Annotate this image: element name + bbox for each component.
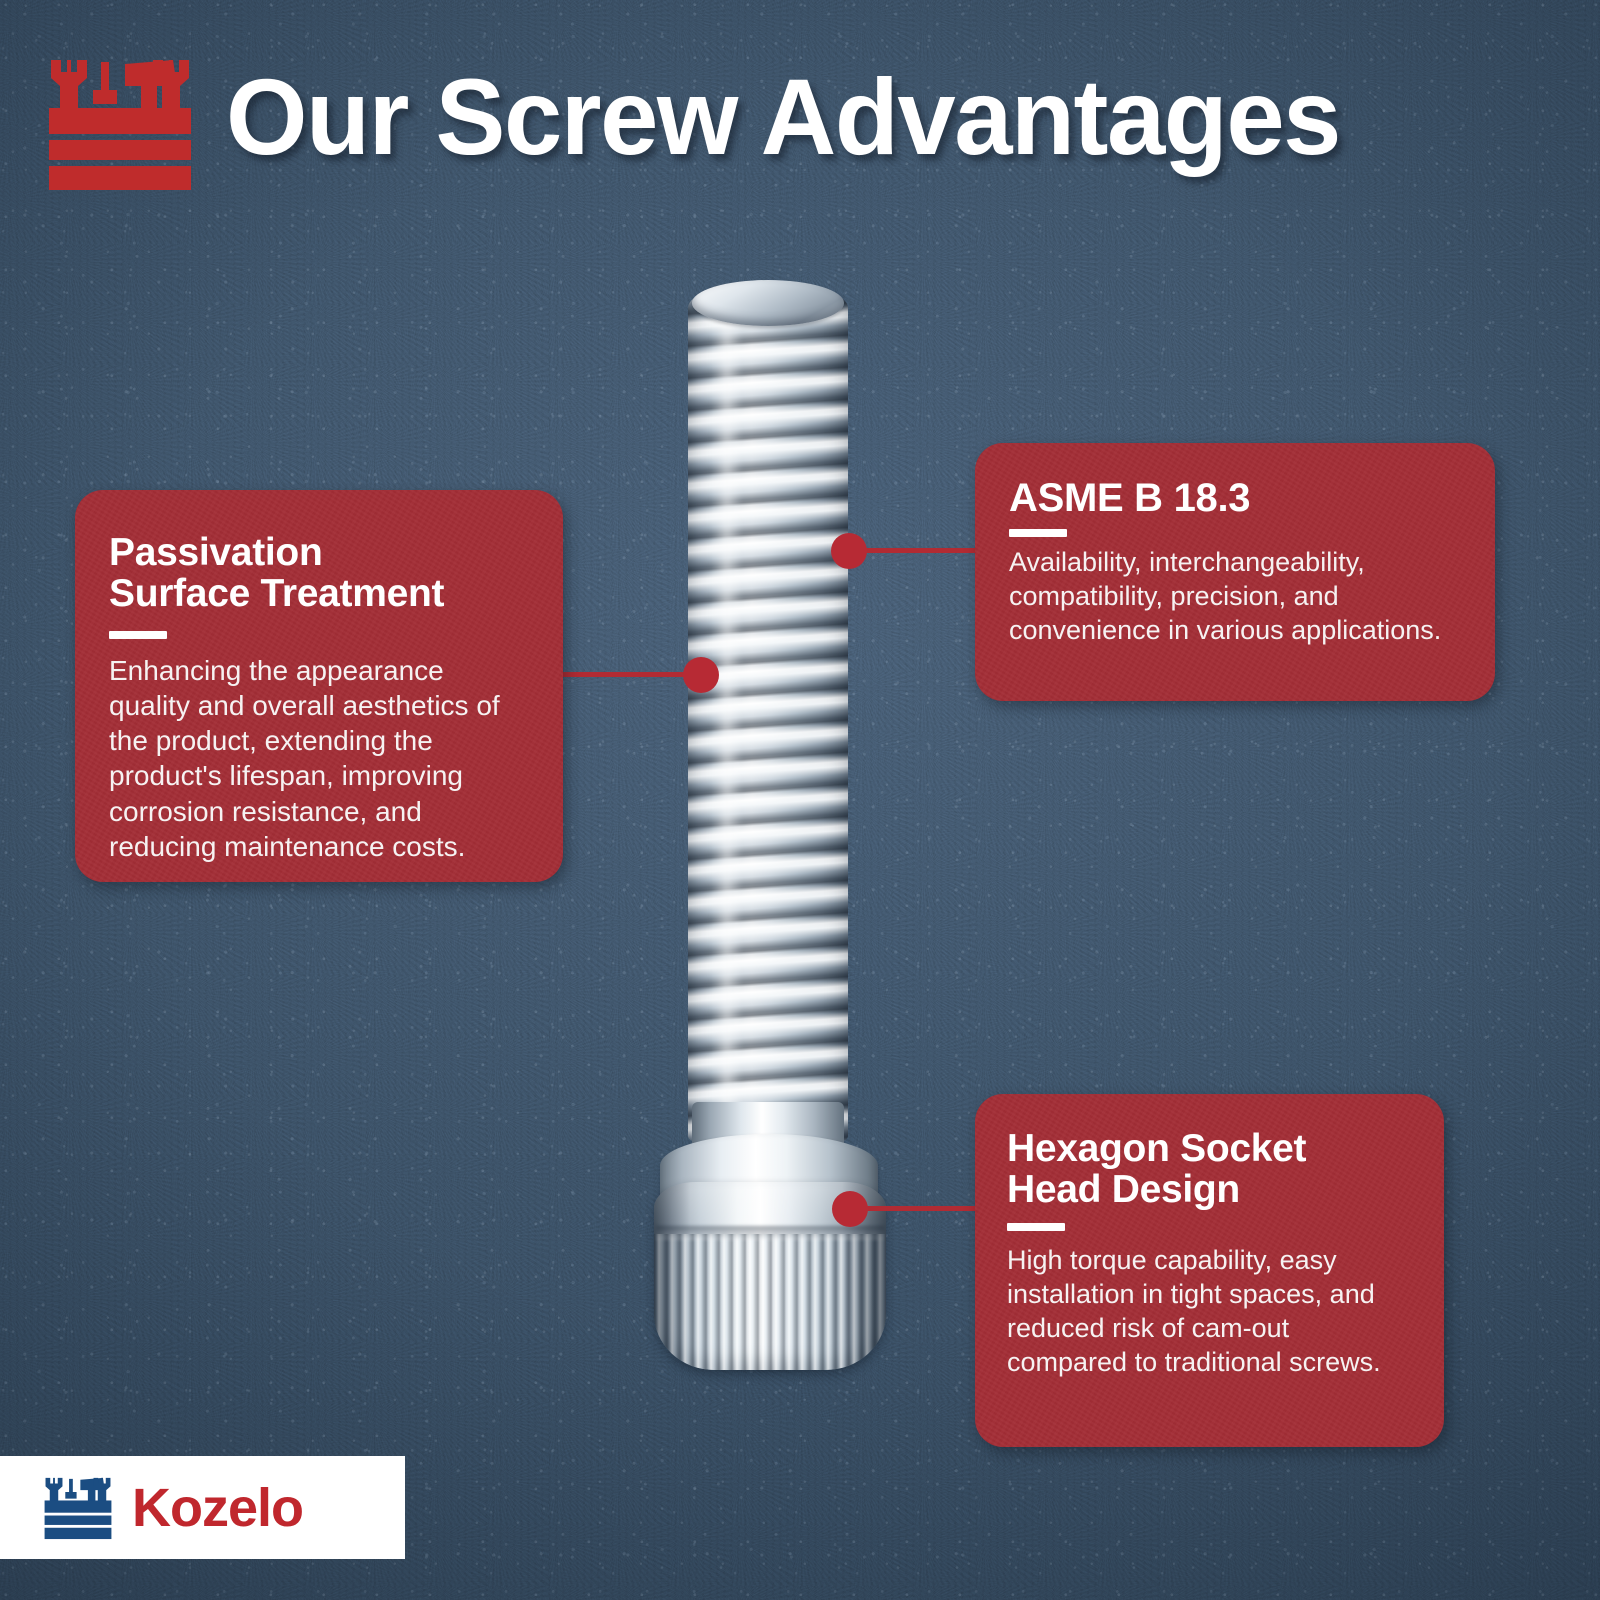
brand-logo-banner: Kozelo bbox=[0, 1456, 405, 1559]
callout-passivation: PassivationSurface Treatment Enhancing t… bbox=[75, 490, 563, 882]
connector-dot-asme bbox=[831, 533, 867, 569]
page-title: Our Screw Advantages bbox=[226, 63, 1526, 171]
callout-hexagon: Hexagon SocketHead Design High torque ca… bbox=[975, 1094, 1444, 1447]
callout-asme: ASME B 18.3 Availability, interchangeabi… bbox=[975, 443, 1495, 701]
connector-dot-passivation bbox=[683, 657, 719, 693]
connector-dot-hexagon bbox=[832, 1191, 868, 1227]
toolbox-icon bbox=[45, 56, 195, 192]
callout-title-passivation: PassivationSurface Treatment bbox=[109, 532, 529, 615]
brand-name: Kozelo bbox=[132, 1481, 303, 1535]
callout-divider bbox=[1009, 529, 1067, 537]
callout-divider bbox=[109, 631, 167, 639]
callout-title-asme: ASME B 18.3 bbox=[1009, 477, 1461, 519]
header: Our Screw Advantages bbox=[0, 0, 1600, 230]
infographic-canvas: Our Screw Advantages PassivationSurface … bbox=[0, 0, 1600, 1600]
callout-body-asme: Availability, interchangeability, compat… bbox=[1009, 545, 1461, 647]
callout-title-line2: Head Design bbox=[1007, 1168, 1240, 1211]
toolbox-icon bbox=[42, 1476, 114, 1540]
callout-title-hexagon: Hexagon SocketHead Design bbox=[1007, 1128, 1412, 1211]
callout-divider bbox=[1007, 1223, 1065, 1231]
screw-threaded-shaft bbox=[688, 282, 848, 1142]
callout-title-line2: Surface Treatment bbox=[109, 572, 444, 615]
screw-tip bbox=[692, 280, 844, 326]
screw-head-left-shading bbox=[654, 1182, 690, 1370]
callout-title-line1: Hexagon Socket bbox=[1007, 1127, 1306, 1170]
callout-title-line1: Passivation bbox=[109, 531, 322, 574]
callout-body-hexagon: High torque capability, easy installatio… bbox=[1007, 1243, 1412, 1379]
callout-body-passivation: Enhancing the appearance quality and ove… bbox=[109, 653, 529, 865]
screw-shaft-highlight bbox=[712, 288, 742, 1136]
